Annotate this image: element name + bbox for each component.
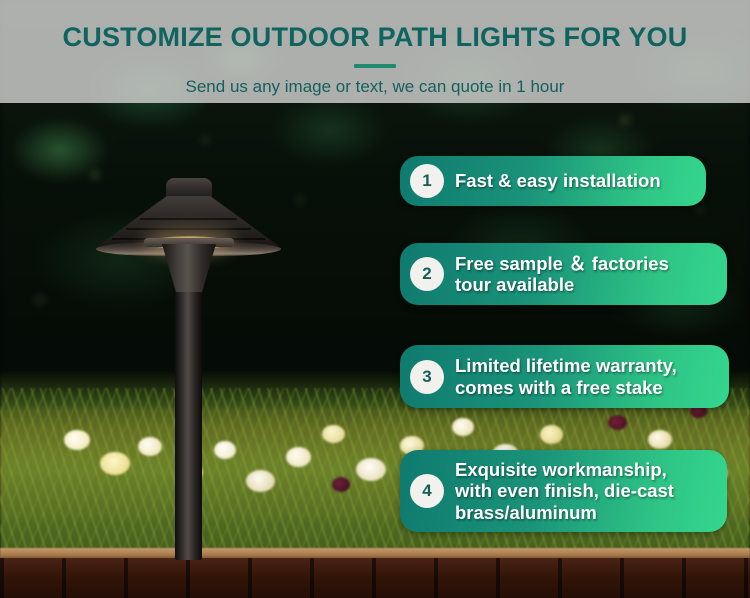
feature-text: Limited lifetime warranty, comes with a … <box>455 355 677 398</box>
lamp-shade-ring <box>140 218 237 220</box>
feature-card-1[interactable]: 1 Fast & easy installation <box>400 156 706 206</box>
flower-blossom <box>322 425 345 443</box>
flower-blossom <box>356 458 386 481</box>
feature-number-badge: 4 <box>410 474 444 508</box>
flower-blossom <box>286 447 311 467</box>
feature-text: Free sample ＆ factories tour available <box>455 253 669 296</box>
feature-number-badge: 1 <box>410 164 444 198</box>
feature-text: Fast & easy installation <box>455 170 661 191</box>
page-title: CUSTOMIZE OUTDOOR PATH LIGHTS FOR YOU <box>0 22 750 53</box>
feature-number-badge: 2 <box>410 257 444 291</box>
page-subtitle: Send us any image or text, we can quote … <box>0 77 750 97</box>
flower-blossom <box>648 430 672 449</box>
path-light-product <box>96 178 281 558</box>
flower-blossom <box>452 418 474 436</box>
header-band: CUSTOMIZE OUTDOOR PATH LIGHTS FOR YOU Se… <box>0 0 750 103</box>
feature-number-badge: 3 <box>410 360 444 394</box>
feature-card-2[interactable]: 2 Free sample ＆ factories tour available <box>400 243 727 305</box>
flower-blossom <box>540 425 563 444</box>
lamp-stem <box>175 292 202 560</box>
marketing-banner: CUSTOMIZE OUTDOOR PATH LIGHTS FOR YOU Se… <box>0 0 750 598</box>
feature-card-3[interactable]: 3 Limited lifetime warranty, comes with … <box>400 345 729 408</box>
lamp-shade-ring <box>126 228 251 230</box>
wall-base <box>0 558 750 598</box>
flower-blossom <box>64 430 90 450</box>
flower-blossom <box>332 477 350 492</box>
title-divider <box>354 64 396 68</box>
lamp-neck <box>162 244 216 296</box>
feature-text: Exquisite workmanship, with even finish,… <box>455 459 674 523</box>
feature-card-4[interactable]: 4 Exquisite workmanship, with even finis… <box>400 450 727 532</box>
flower-blossom <box>608 415 627 430</box>
